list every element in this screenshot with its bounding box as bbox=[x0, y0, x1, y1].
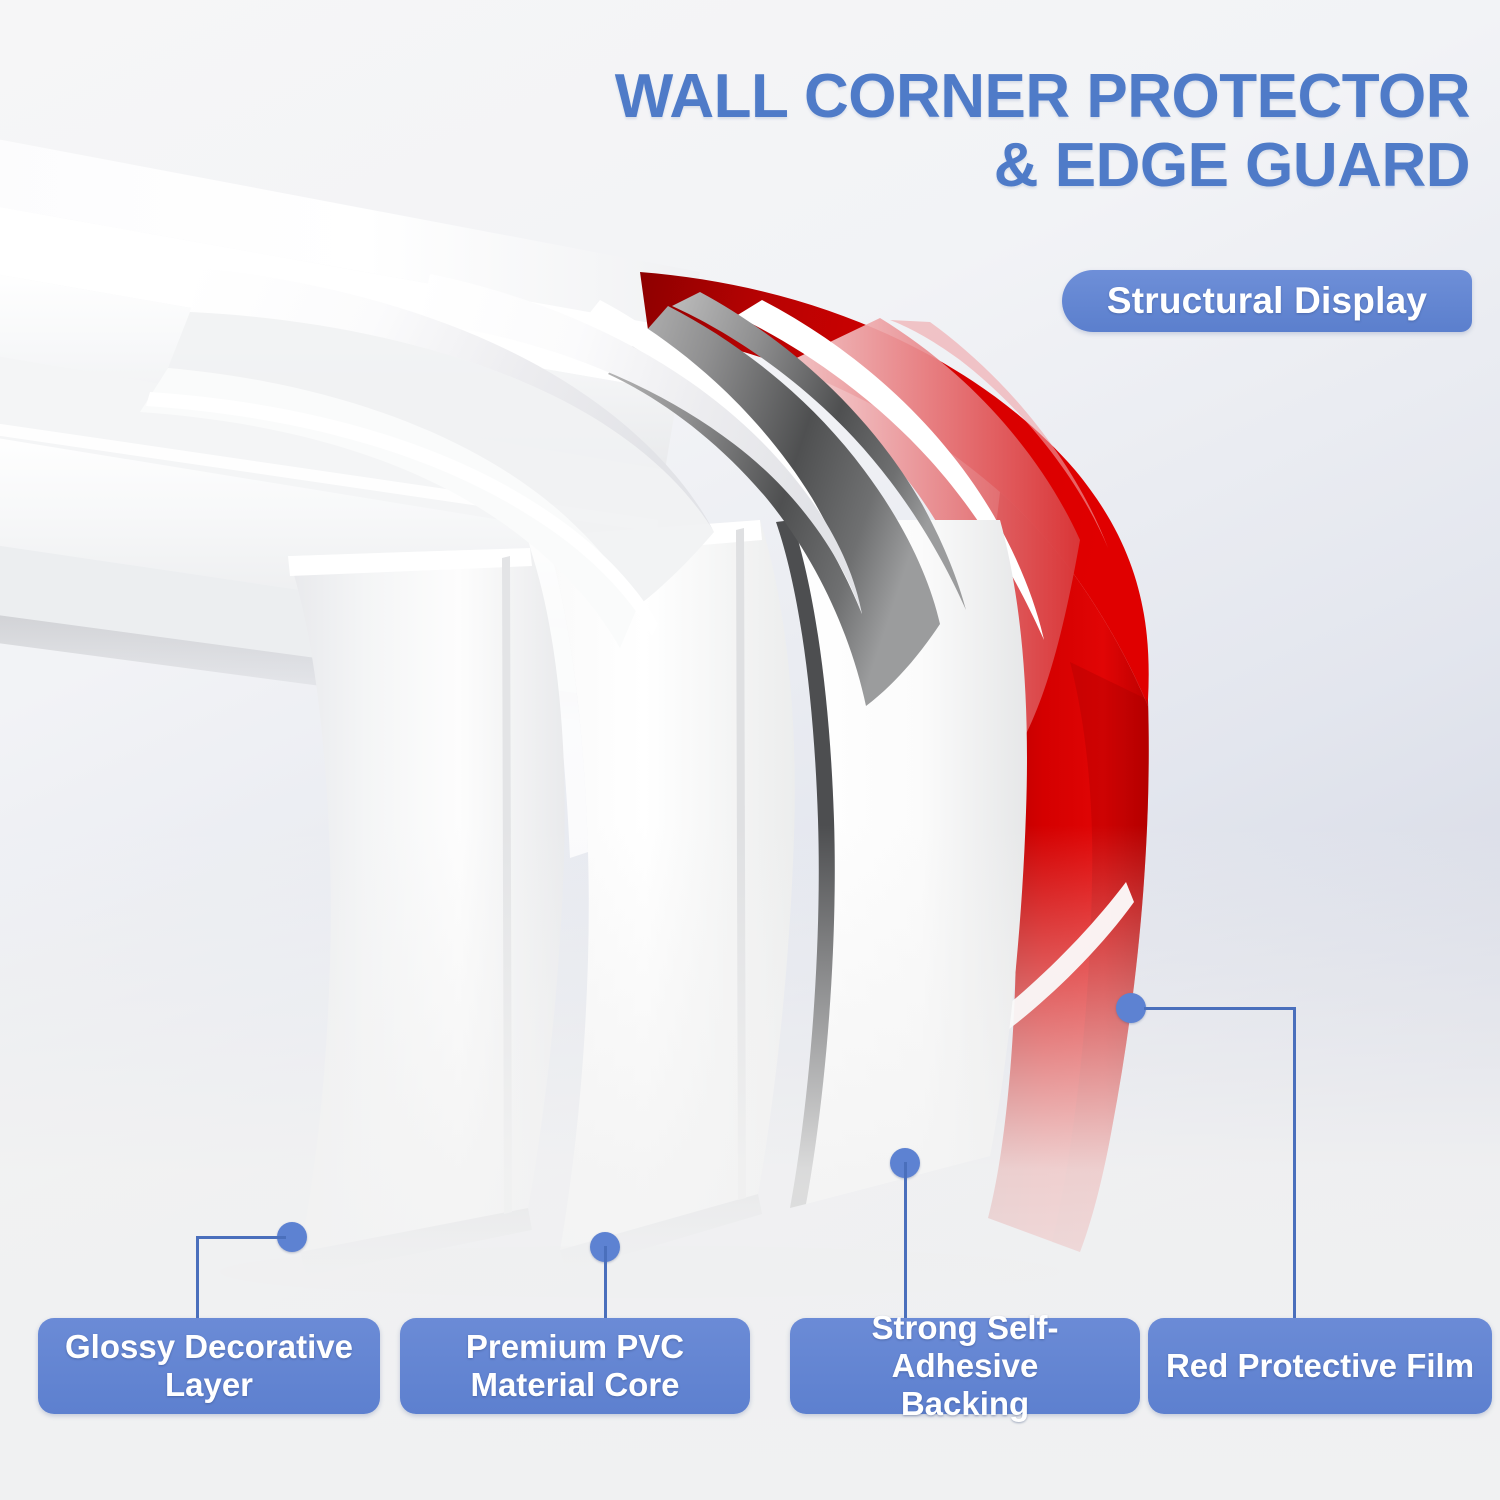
callout-line-adhesive-vertical bbox=[904, 1162, 907, 1320]
callout-line-glossy-horizontal bbox=[196, 1236, 286, 1239]
callout-line-glossy-vertical bbox=[196, 1236, 199, 1320]
callout-label-film-text: Red Protective Film bbox=[1166, 1347, 1474, 1385]
structural-display-badge: Structural Display bbox=[1062, 270, 1472, 332]
callout-line-film-vertical bbox=[1293, 1007, 1296, 1320]
callout-label-adhesive: Strong Self-Adhesive Backing bbox=[790, 1318, 1140, 1414]
infographic-canvas: WALL CORNER PROTECTOR & EDGE GUARD Struc… bbox=[0, 0, 1500, 1500]
callout-dot-film bbox=[1116, 993, 1146, 1023]
callout-label-glossy-text: Glossy Decorative Layer bbox=[65, 1328, 353, 1405]
badge-label: Structural Display bbox=[1107, 280, 1427, 322]
callout-line-film-horizontal bbox=[1144, 1007, 1296, 1010]
callout-label-adhesive-text: Strong Self-Adhesive Backing bbox=[800, 1309, 1130, 1424]
callout-label-glossy: Glossy Decorative Layer bbox=[38, 1318, 380, 1414]
page-title: WALL CORNER PROTECTOR & EDGE GUARD bbox=[300, 62, 1470, 201]
callout-label-pvc: Premium PVC Material Core bbox=[400, 1318, 750, 1414]
callout-label-film: Red Protective Film bbox=[1148, 1318, 1492, 1414]
product-illustration bbox=[0, 0, 1500, 1500]
callout-label-pvc-text: Premium PVC Material Core bbox=[466, 1328, 684, 1405]
callout-line-pvc-vertical bbox=[604, 1246, 607, 1320]
